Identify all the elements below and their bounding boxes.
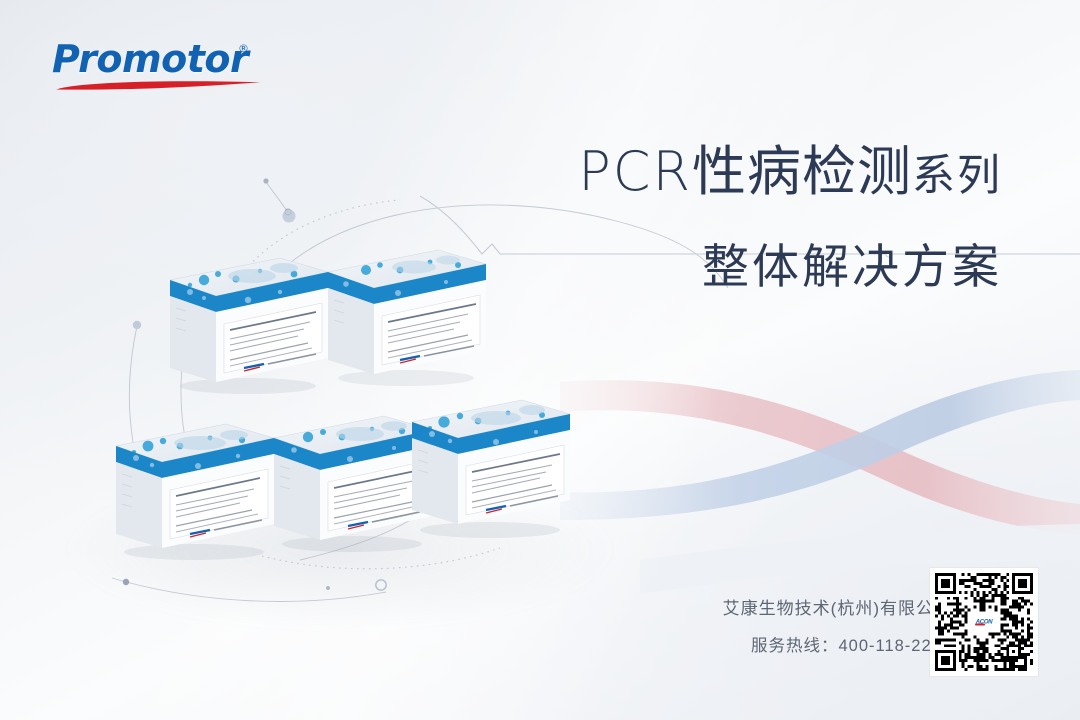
qr-code[interactable]: ACON: [930, 568, 1038, 676]
footer-contact-block: 艾康生物技术(杭州)有限公司 服务热线：400-118-2266: [723, 596, 952, 658]
poster-canvas: Promotor ® PCR性病检测系列 整体解决方案: [0, 0, 1080, 720]
product-box-front-left: [106, 412, 278, 562]
product-box-render: [106, 412, 278, 562]
product-box-render: [318, 238, 490, 388]
company-name: 艾康生物技术(杭州)有限公司: [723, 596, 952, 622]
product-box-render: [160, 246, 332, 396]
product-box-back-right: [318, 238, 490, 388]
service-hotline: 服务热线：400-118-2266: [723, 634, 952, 659]
qr-center-logo: ACON: [971, 614, 997, 631]
product-box-render: [402, 388, 574, 538]
product-box-back-left: [160, 246, 332, 396]
product-box-front-right: [402, 388, 574, 538]
